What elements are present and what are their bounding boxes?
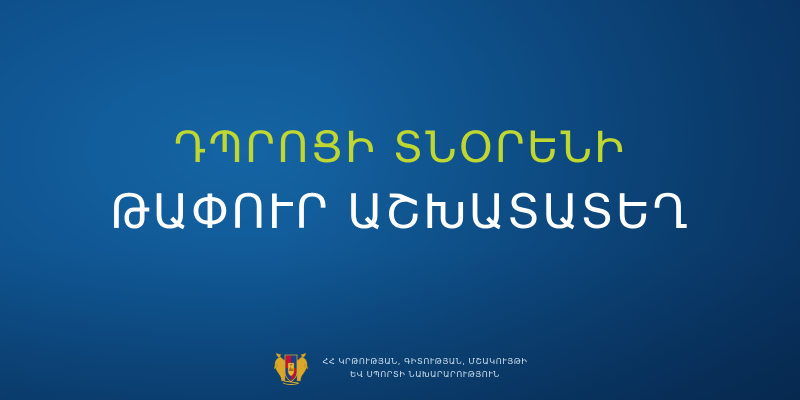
ministry-name-line-2: ԵՎ ՍՊՈՐՏԻ ՆԱԽԱՐԱՐՈՒԹՅՈՒՆ	[323, 368, 528, 381]
ministry-name: ՀՀ ԿՐԹՈՒԹՅԱՆ, ԳԻՏՈՒԹՅԱՆ, ՄՇԱԿՈՒՅԹԻ ԵՎ ՍՊ…	[323, 355, 528, 380]
armenian-coat-of-arms-icon	[273, 348, 309, 388]
headline-line-1: ԴՊՐՈՑԻ ՏՆՕՐԵՆԻ	[0, 126, 800, 172]
headline-block: ԴՊՐՈՑԻ ՏՆՕՐԵՆԻ ԹԱՓՈՒՐ ԱՇԽԱՏԱՏԵՂ	[0, 126, 800, 237]
footer: ՀՀ ԿՐԹՈՒԹՅԱՆ, ԳԻՏՈՒԹՅԱՆ, ՄՇԱԿՈՒՅԹԻ ԵՎ ՍՊ…	[0, 348, 800, 388]
announcement-banner: ԴՊՐՈՑԻ ՏՆՕՐԵՆԻ ԹԱՓՈՒՐ ԱՇԽԱՏԱՏԵՂ	[0, 0, 800, 400]
headline-line-2: ԹԱՓՈՒՐ ԱՇԽԱՏԱՏԵՂ	[0, 188, 800, 238]
ministry-name-line-1: ՀՀ ԿՐԹՈՒԹՅԱՆ, ԳԻՏՈՒԹՅԱՆ, ՄՇԱԿՈՒՅԹԻ	[323, 355, 528, 368]
